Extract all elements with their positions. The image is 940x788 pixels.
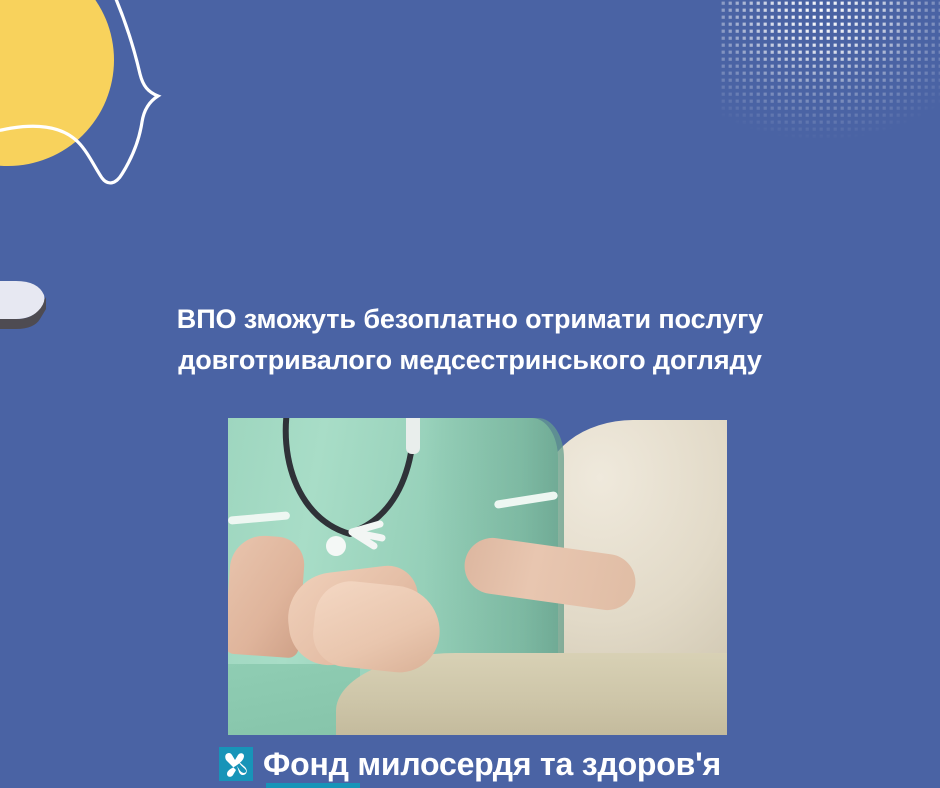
yellow-circle-decoration	[0, 0, 114, 166]
logo-secondary-bar	[266, 783, 360, 788]
organization-name: Фонд милосердя та здоров'я	[263, 746, 721, 783]
headline-line-1: ВПО зможуть безоплатно отримати послугу	[120, 299, 820, 340]
footer-brand: Фонд милосердя та здоров'я	[219, 746, 721, 783]
slab-decoration	[0, 277, 50, 329]
halftone-dots-decoration	[720, 0, 940, 160]
headline-line-2: довготривалого медсестринського догляду	[120, 340, 820, 381]
headline: ВПО зможуть безоплатно отримати послугу …	[120, 299, 820, 380]
heart-butterfly-logo-icon	[219, 747, 253, 781]
photo-nurse-holding-patient-hand	[228, 418, 727, 735]
poster-canvas: ВПО зможуть безоплатно отримати послугу …	[0, 0, 940, 788]
footer-bar: Фонд милосердя та здоров'я	[0, 744, 940, 788]
photo-content	[228, 418, 727, 735]
